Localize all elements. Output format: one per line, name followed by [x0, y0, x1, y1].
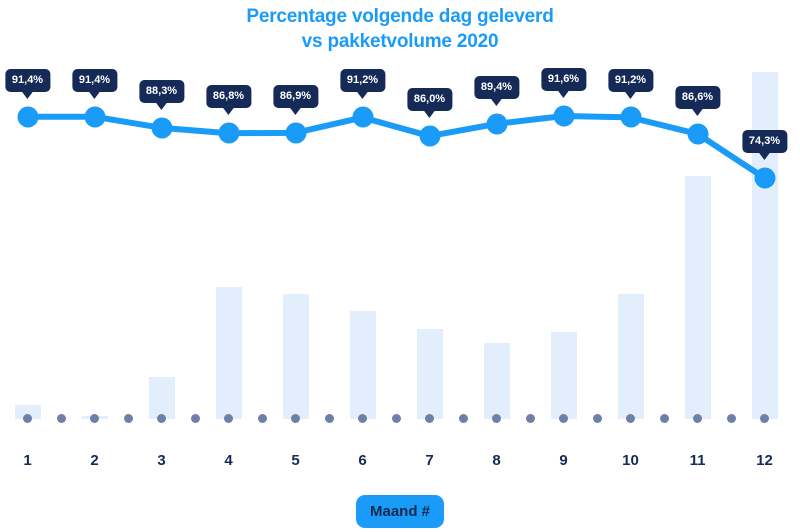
value-label-month-11: 86,6%: [675, 86, 720, 109]
x-axis-title-pill[interactable]: Maand #: [356, 495, 444, 528]
value-label-month-4: 86,8%: [206, 85, 251, 108]
x-tick-1: 1: [23, 452, 31, 469]
x-tick-7: 7: [425, 452, 433, 469]
x-tick-5: 5: [291, 452, 299, 469]
line-series-path: [0, 0, 800, 440]
x-tick-11: 11: [690, 452, 706, 469]
chart-container: Percentage volgende dag geleverd vs pakk…: [0, 0, 800, 532]
data-point-month-1[interactable]: [17, 106, 38, 127]
x-tick-8: 8: [492, 452, 500, 469]
data-point-month-6[interactable]: [352, 107, 373, 128]
data-point-month-5[interactable]: [285, 122, 306, 143]
value-label-month-8: 89,4%: [474, 76, 519, 99]
data-point-month-9[interactable]: [553, 106, 574, 127]
x-tick-6: 6: [358, 452, 366, 469]
plot-area: 91,4%91,4%88,3%86,8%86,9%91,2%86,0%89,4%…: [0, 0, 800, 440]
x-tick-2: 2: [90, 452, 98, 469]
data-point-month-4[interactable]: [218, 123, 239, 144]
value-label-month-3: 88,3%: [139, 80, 184, 103]
x-tick-4: 4: [224, 452, 232, 469]
x-tick-12: 12: [756, 452, 773, 469]
data-point-month-2[interactable]: [84, 106, 105, 127]
value-label-month-6: 91,2%: [340, 69, 385, 92]
data-point-month-11[interactable]: [687, 123, 708, 144]
data-point-month-10[interactable]: [620, 107, 641, 128]
x-tick-3: 3: [157, 452, 165, 469]
value-label-month-9: 91,6%: [541, 68, 586, 91]
value-label-month-7: 86,0%: [407, 88, 452, 111]
value-label-month-2: 91,4%: [72, 69, 117, 92]
x-tick-9: 9: [559, 452, 567, 469]
x-tick-10: 10: [622, 452, 639, 469]
value-label-month-1: 91,4%: [5, 69, 50, 92]
x-axis-tick-labels: 123456789101112: [0, 452, 800, 478]
value-label-month-10: 91,2%: [608, 69, 653, 92]
data-point-month-3[interactable]: [151, 117, 172, 138]
value-label-month-5: 86,9%: [273, 85, 318, 108]
data-point-month-8[interactable]: [486, 113, 507, 134]
value-label-month-12: 74,3%: [742, 130, 787, 153]
data-point-month-7[interactable]: [419, 126, 440, 147]
data-point-month-12[interactable]: [754, 168, 775, 189]
